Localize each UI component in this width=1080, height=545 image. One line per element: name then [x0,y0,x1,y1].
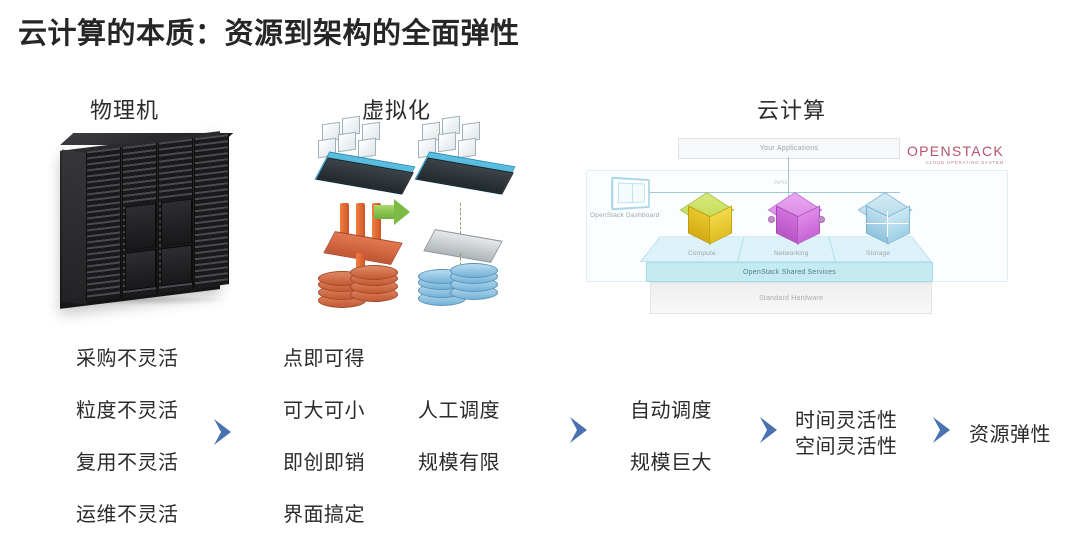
compute-label: Compute [688,250,716,257]
rack-drive-panel [161,245,192,287]
storage-label: Storage [866,250,890,257]
flow-item: 采购不灵活 [76,342,179,371]
flow-item: 粒度不灵活 [76,394,179,423]
standard-hardware-bar: Standard Hardware [650,282,932,314]
chevron-right-icon [566,414,596,446]
flow-item: 界面搞定 [283,498,365,527]
openstack-logo-subtitle: CLOUD OPERATING SYSTEM [907,160,1004,165]
network-port-dot [768,216,775,223]
vm-node-box [438,132,456,153]
chevron-right-icon [756,414,786,446]
virtual-storage-controller [423,229,502,263]
flow-item: 时间灵活性 [795,408,898,434]
openstack-architecture-diagram: Your Applications OPENSTACK CLOUD OPERAT… [578,132,1018,317]
flow-item: 空间灵活性 [795,434,898,460]
compute-service-cube [686,194,732,244]
flow-item: 自动调度 [630,394,712,423]
flow-item: 规模巨大 [630,446,712,475]
rack-column [86,147,121,301]
flow-item: 可大可小 [283,394,365,423]
vm-node-box [358,138,376,159]
server-rack-illustration [38,133,233,311]
shared-services-bar: OpenStack Shared Services [646,262,933,282]
storage-service-cube [864,194,910,244]
rack-drive-panel [125,249,156,291]
disk-stack [350,265,396,299]
flow-item: 点即可得 [283,342,365,371]
section-header-cloud: 云计算 [757,93,826,125]
your-applications-box: Your Applications [678,138,900,159]
rack-body [60,131,220,309]
rack-column [194,134,229,288]
rack-drive-panel [125,203,156,251]
chevron-right-icon [929,414,959,446]
flow-item: 人工调度 [418,394,500,423]
flow-item-group: 时间灵活性 空间灵活性 [795,408,898,460]
vm-node-box [338,132,356,153]
flow-item: 资源弹性 [969,418,1051,447]
network-port-dot [818,216,825,223]
disk-stack [450,263,496,297]
dashboard-label: OpenStack Dashboard [590,212,660,219]
section-header-physical: 物理机 [90,93,159,125]
apis-label: APIs [774,180,787,186]
connector-line [788,177,789,192]
chevron-right-icon [210,416,240,448]
openstack-logo: OPENSTACK CLOUD OPERATING SYSTEM [907,144,1004,165]
openstack-logo-title: OPENSTACK [907,144,1004,158]
flow-item: 规模有限 [418,446,500,475]
rack-column [122,143,157,297]
rack-drive-panel [161,199,192,247]
openstack-dashboard-icon [611,177,650,211]
networking-label: Networking [774,250,809,257]
connector-line [788,157,789,177]
virtualization-illustration [300,115,505,315]
flow-item: 复用不灵活 [76,446,179,475]
rack-side-panel [62,150,86,305]
page-title: 云计算的本质：资源到架构的全面弹性 [18,10,520,52]
flow-item: 即创即销 [283,446,365,475]
rack-shadow [58,295,226,305]
vm-node-box [458,138,476,159]
networking-service-cube [774,194,820,244]
connector-bus-line [650,192,900,193]
flow-item: 运维不灵活 [76,498,179,527]
rack-column [158,138,193,292]
